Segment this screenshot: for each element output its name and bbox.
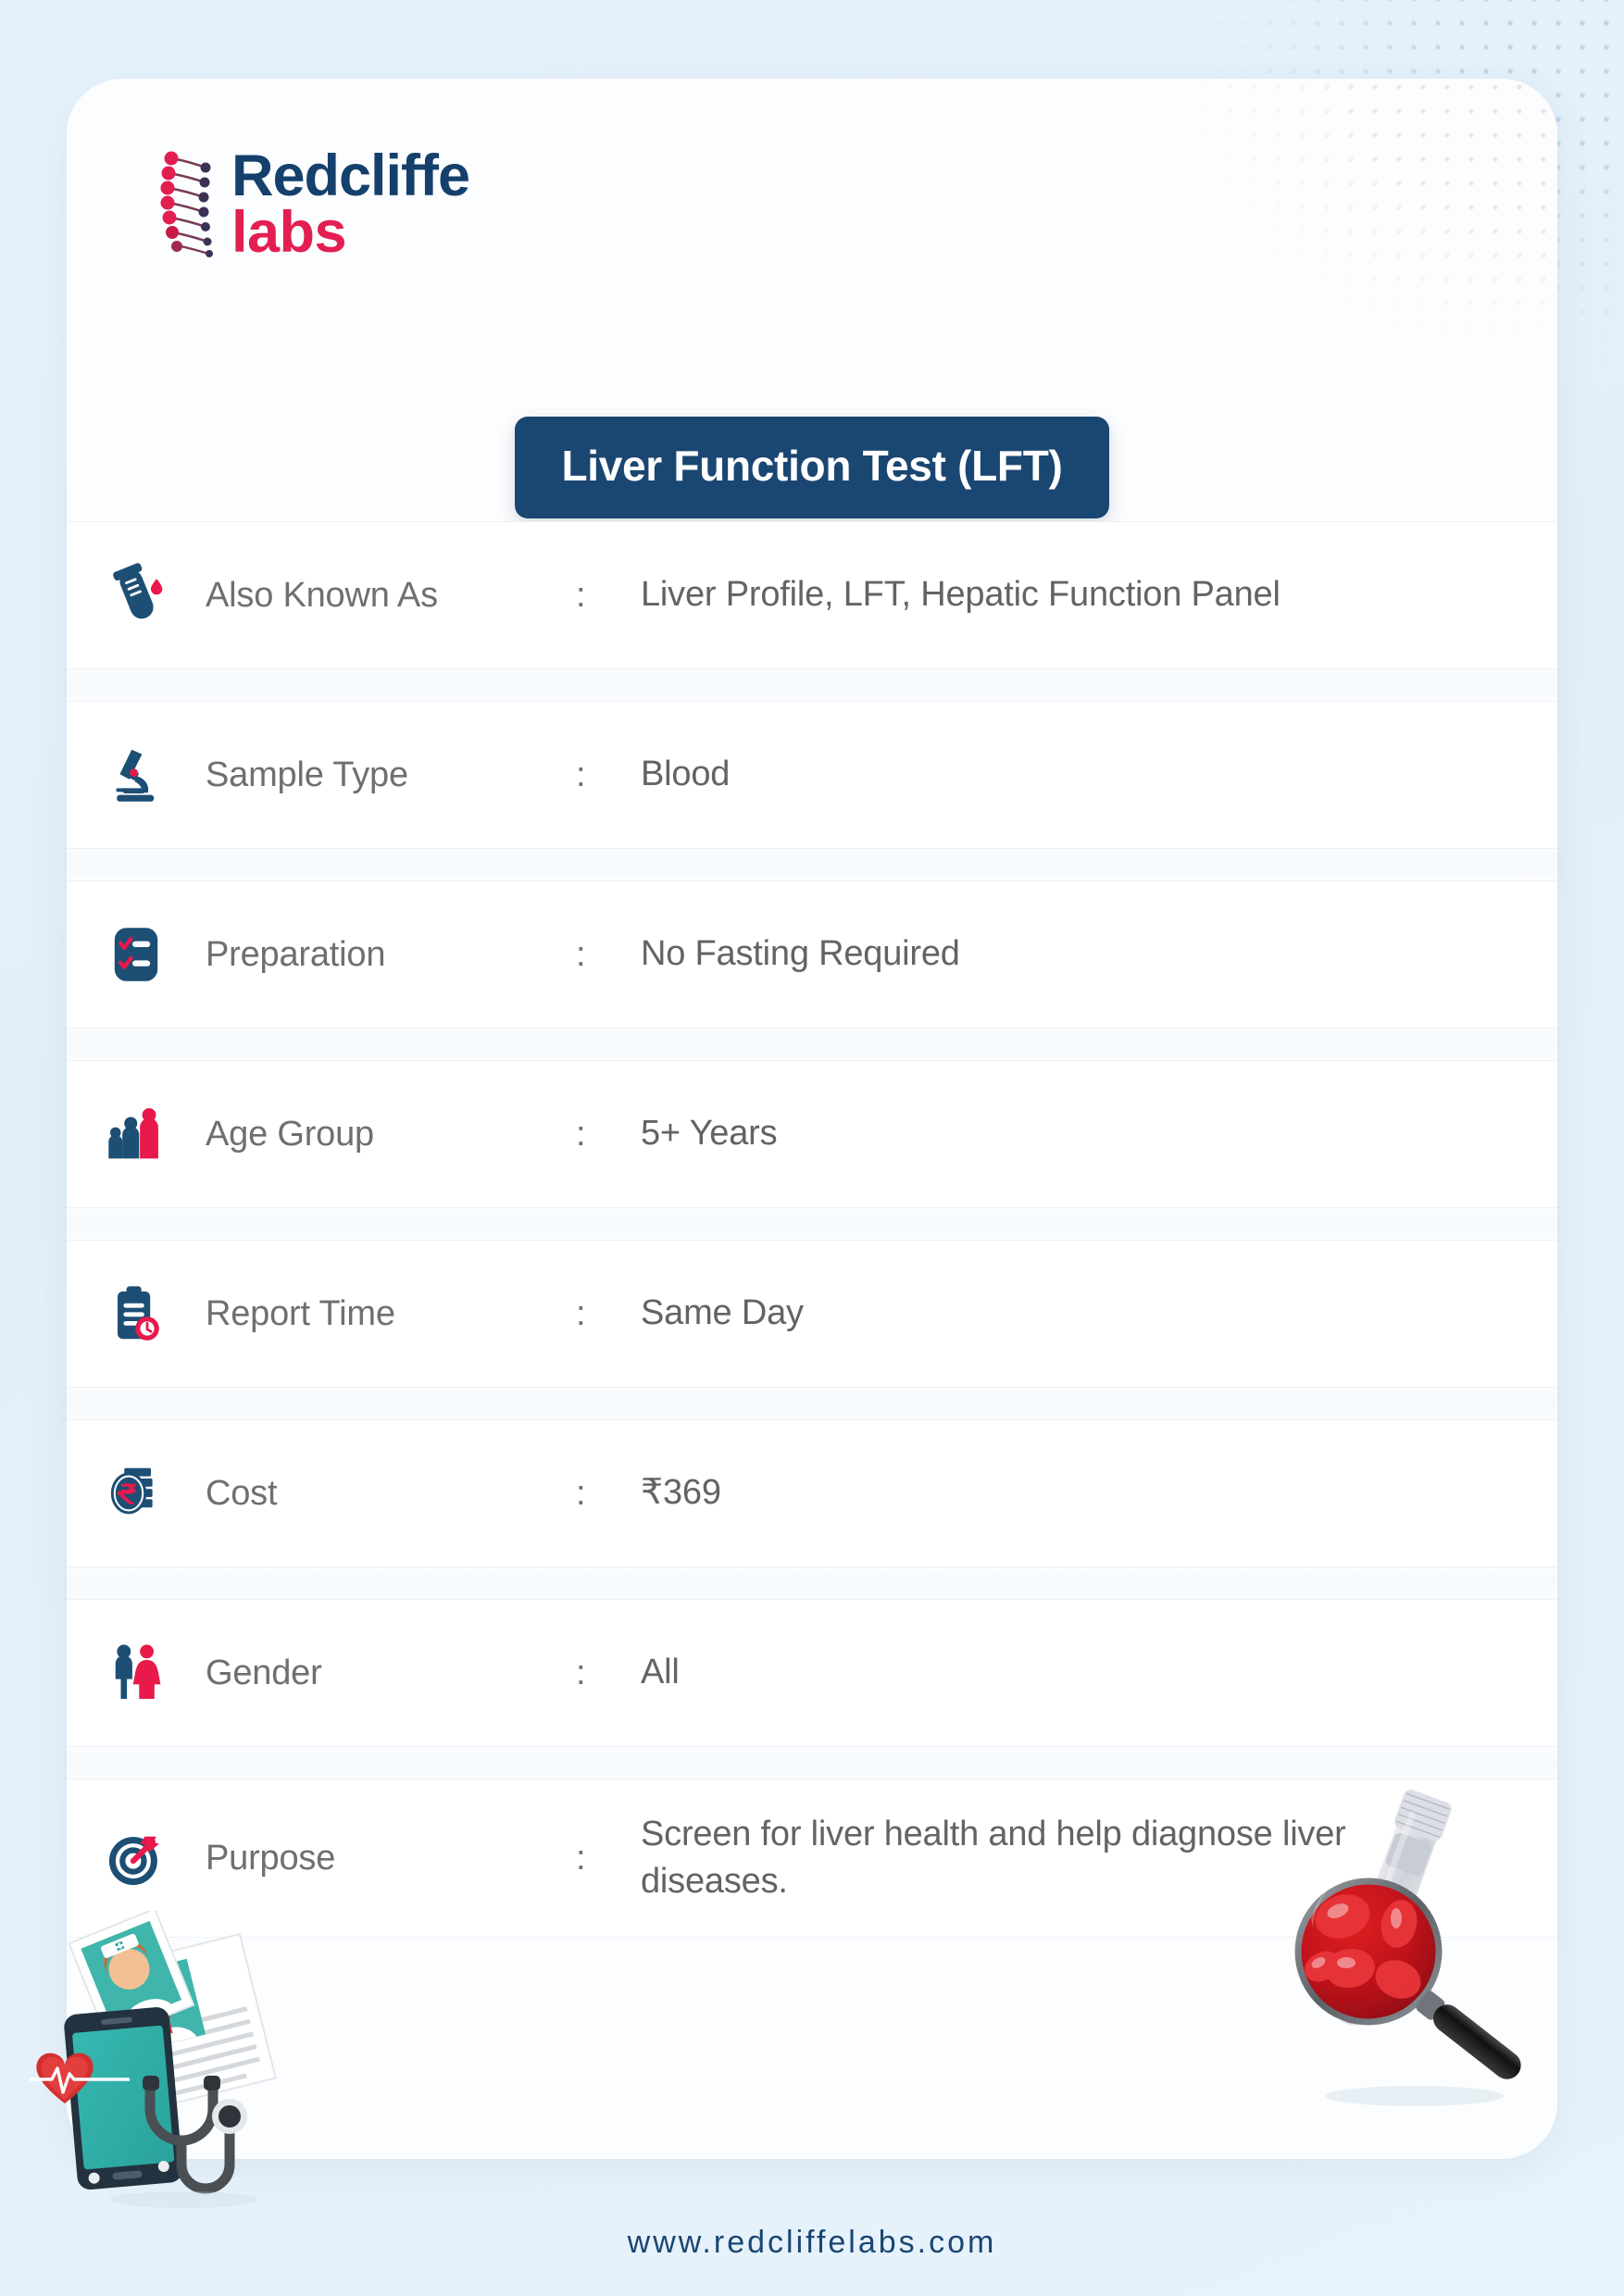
page-title: Liver Function Test (LFT) bbox=[515, 417, 1108, 518]
rupee-coins-icon bbox=[67, 1464, 206, 1523]
row-value: No Fasting Required bbox=[641, 930, 1530, 978]
page-title-container: Liver Function Test (LFT) bbox=[67, 417, 1557, 518]
table-row: Cost : ₹369 bbox=[67, 1420, 1557, 1566]
row-label: Report Time bbox=[206, 1294, 576, 1334]
row-gap-band bbox=[67, 669, 1557, 701]
row-colon: : bbox=[576, 1474, 641, 1514]
row-label: Also Known As bbox=[206, 576, 576, 616]
row-colon: : bbox=[576, 755, 641, 795]
row-label: Gender bbox=[206, 1653, 576, 1693]
brand-logo: Redcliffe labs bbox=[159, 148, 469, 261]
table-row: Also Known As : Liver Profile, LFT, Hepa… bbox=[67, 522, 1557, 668]
table-row: Preparation : No Fasting Required bbox=[67, 881, 1557, 1028]
row-value: ₹369 bbox=[641, 1469, 1530, 1516]
row-label: Preparation bbox=[206, 935, 576, 975]
row-value: Same Day bbox=[641, 1290, 1530, 1337]
row-value: 5+ Years bbox=[641, 1110, 1530, 1157]
family-group-icon bbox=[67, 1104, 206, 1165]
row-colon: : bbox=[576, 1839, 641, 1878]
logo-text-secondary: labs bbox=[231, 205, 469, 261]
row-divider bbox=[67, 1937, 1557, 1938]
row-gap-band bbox=[67, 1208, 1557, 1240]
checklist-clipboard-icon bbox=[67, 925, 206, 984]
logo-text-primary: Redcliffe bbox=[231, 148, 469, 205]
info-card: Redcliffe labs Liver Function Test (LFT) bbox=[67, 79, 1557, 2159]
row-value: All bbox=[641, 1649, 1530, 1696]
row-colon: : bbox=[576, 1653, 641, 1693]
target-dart-icon bbox=[67, 1829, 206, 1887]
row-gap-band bbox=[67, 1388, 1557, 1419]
row-label: Sample Type bbox=[206, 755, 576, 795]
table-row: Report Time : Same Day bbox=[67, 1241, 1557, 1387]
test-details-table: Also Known As : Liver Profile, LFT, Hepa… bbox=[67, 521, 1557, 1938]
row-gap-band bbox=[67, 1747, 1557, 1778]
row-gap-band bbox=[67, 1029, 1557, 1060]
row-gap-band bbox=[67, 849, 1557, 880]
male-female-icon bbox=[67, 1642, 206, 1703]
row-colon: : bbox=[576, 1294, 641, 1334]
table-row: Purpose : Screen for liver health and he… bbox=[67, 1779, 1557, 1937]
dna-helix-icon bbox=[159, 149, 217, 260]
row-value: Blood bbox=[641, 751, 1530, 798]
table-row: Gender : All bbox=[67, 1600, 1557, 1746]
row-colon: : bbox=[576, 1115, 641, 1154]
row-label: Purpose bbox=[206, 1839, 576, 1878]
row-value: Screen for liver health and help diagnos… bbox=[641, 1811, 1446, 1906]
row-gap-band bbox=[67, 1567, 1557, 1599]
table-row: Age Group : 5+ Years bbox=[67, 1061, 1557, 1207]
microscope-icon bbox=[67, 745, 206, 805]
clipboard-clock-icon bbox=[67, 1283, 206, 1344]
blood-test-tube-icon bbox=[67, 562, 206, 629]
row-colon: : bbox=[576, 935, 641, 975]
footer-website-url[interactable]: www.redcliffelabs.com bbox=[0, 2225, 1624, 2261]
row-label: Age Group bbox=[206, 1115, 576, 1154]
table-row: Sample Type : Blood bbox=[67, 702, 1557, 848]
row-value: Liver Profile, LFT, Hepatic Function Pan… bbox=[641, 571, 1530, 618]
row-colon: : bbox=[576, 576, 641, 616]
row-label: Cost bbox=[206, 1474, 576, 1514]
